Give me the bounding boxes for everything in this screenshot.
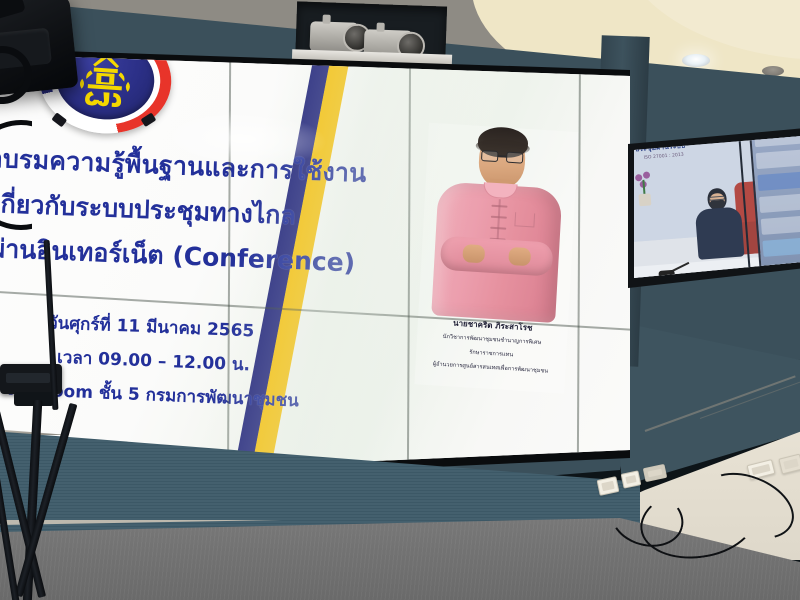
feed-plant-left-icon bbox=[634, 171, 655, 206]
outlet-socket-icon bbox=[601, 481, 614, 491]
camera-tripod bbox=[0, 330, 160, 600]
outlet-socket-icon bbox=[625, 475, 636, 484]
projector-mount bbox=[376, 23, 384, 32]
outlet-socket-icon bbox=[751, 464, 770, 475]
portrait-hand-left bbox=[462, 244, 485, 263]
plant-pot bbox=[638, 193, 651, 206]
participant-body bbox=[695, 206, 745, 259]
port-socket-icon bbox=[783, 458, 799, 469]
portrait-pocket bbox=[514, 212, 535, 227]
data-port[interactable] bbox=[643, 464, 667, 482]
glasses-bridge bbox=[498, 155, 506, 157]
camera-top-handle bbox=[0, 0, 26, 26]
port-socket-icon bbox=[648, 469, 663, 478]
portrait-folded-arms bbox=[440, 236, 554, 277]
feed-thumbnail bbox=[756, 149, 800, 169]
shirt-button bbox=[491, 216, 507, 219]
glasses-lens-right bbox=[506, 152, 524, 164]
ceiling-downlight-icon bbox=[682, 54, 710, 67]
shirt-button bbox=[490, 227, 506, 230]
feed-thumbnail bbox=[761, 215, 800, 235]
slide-heading-line-3: ผ่านอินเทอร์เน็ต (Conference) bbox=[0, 229, 356, 284]
shirt-button bbox=[491, 205, 507, 208]
ceiling-projector-left-icon bbox=[309, 21, 358, 53]
slide-heading-line-2: เกี่ยวกับระบบประชุมทางไกล bbox=[0, 184, 296, 236]
speaker-figure-icon bbox=[429, 123, 567, 321]
side-video-conference-monitor[interactable]: ประชุมผ่านระบบ ISO 27001 : 2013 bbox=[634, 136, 800, 278]
tripod-leg bbox=[15, 403, 78, 597]
conference-room-photo: ฝึกอบรมความรู้พื้นฐานและการใช้งาน เกี่ยว… bbox=[0, 0, 800, 600]
side-monitor-feed: ประชุมผ่านระบบ ISO 27001 : 2013 bbox=[634, 136, 800, 278]
portrait-hand-right bbox=[508, 247, 531, 266]
glasses-lens-left bbox=[481, 150, 499, 162]
feed-thumbnail bbox=[759, 193, 800, 213]
ceiling-speaker-icon bbox=[762, 66, 784, 76]
speaker-portrait: นายชาคริต ภิระสาโรช นักวิชาการพัฒนาชุมชน… bbox=[414, 123, 578, 394]
feed-participant-icon bbox=[690, 186, 747, 260]
flower bbox=[643, 171, 651, 179]
projector-mount bbox=[322, 15, 330, 24]
feed-thumbnail bbox=[758, 171, 800, 191]
feed-thumbnail bbox=[763, 237, 800, 257]
